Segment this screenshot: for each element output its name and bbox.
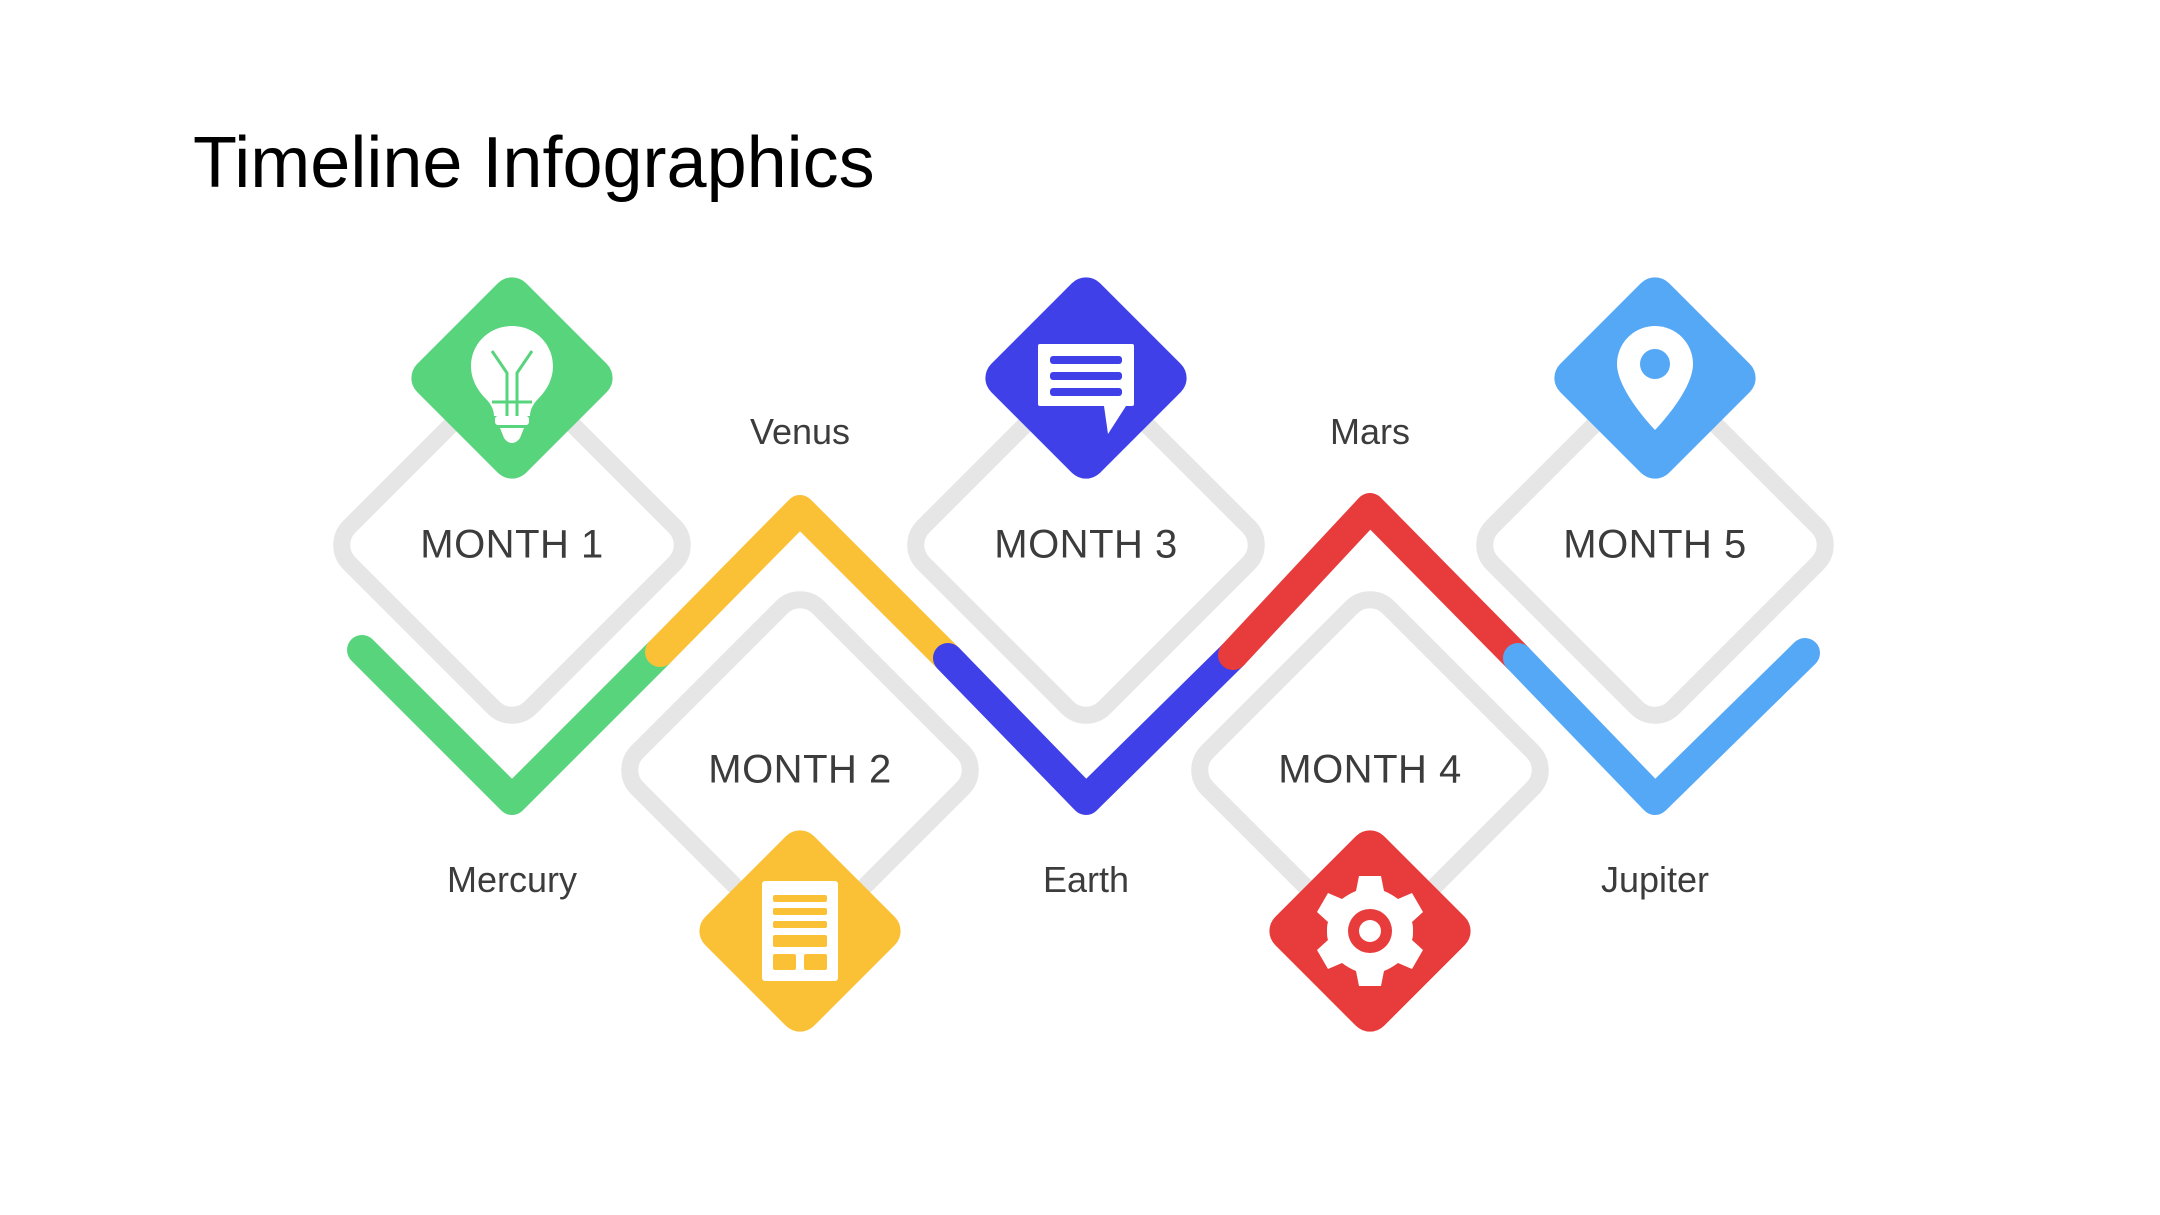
slide-canvas: Timeline Infographics — [0, 0, 2160, 1215]
step-badge-3[interactable] — [977, 269, 1195, 487]
step-badge-2[interactable] — [691, 822, 909, 1040]
planet-label-earth: Earth — [1043, 859, 1129, 901]
month-label-1: MONTH 1 — [420, 523, 604, 568]
month-label-3: MONTH 3 — [994, 523, 1178, 568]
timeline-graphic — [0, 0, 2160, 1215]
month-label-4: MONTH 4 — [1278, 748, 1462, 793]
month-label-2: MONTH 2 — [708, 748, 892, 793]
planet-label-mars: Mars — [1330, 411, 1410, 453]
progress-segment-indigo — [948, 655, 1233, 800]
month-label-5: MONTH 5 — [1563, 523, 1747, 568]
step-badge-4[interactable] — [1261, 822, 1479, 1040]
progress-segment-blue — [1518, 653, 1805, 800]
step-badge-1[interactable] — [403, 269, 621, 487]
planet-label-venus: Venus — [750, 411, 850, 453]
progress-segment-green — [362, 650, 660, 800]
document-icon — [762, 881, 838, 981]
progress-segment-yellow — [660, 510, 948, 658]
progress-segment-red — [1233, 508, 1518, 658]
planet-label-mercury: Mercury — [447, 859, 577, 901]
planet-label-jupiter: Jupiter — [1601, 859, 1709, 901]
step-badge-5[interactable] — [1546, 269, 1764, 487]
